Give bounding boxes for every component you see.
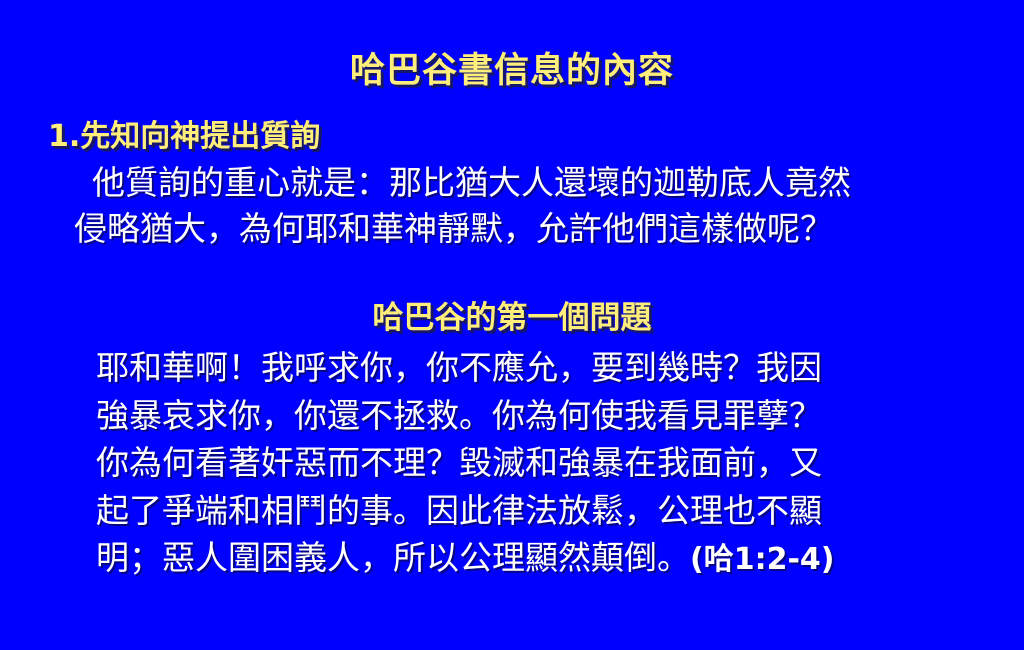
quote-line-text: 明；惡人圍困義人，所以公理顯然顛倒。 xyxy=(96,538,690,577)
quote-line: 你為何看著奸惡而不理？毀滅和強暴在我面前，又 xyxy=(96,439,1024,487)
scripture-quote: 耶和華啊！我呼求你，你不應允，要到幾時？我因 強暴哀求你，你還不拯救。你為何使我… xyxy=(96,344,1024,584)
presentation-slide: 哈巴谷書信息的內容 1.先知向神提出質詢 他質詢的重心就是：那比猶大人還壞的迦勒… xyxy=(0,0,1024,650)
quote-line-with-reference: 明；惡人圍困義人，所以公理顯然顛倒。(哈1:2-4) xyxy=(96,534,1024,584)
page-title: 哈巴谷書信息的內容 xyxy=(0,42,1024,93)
quote-line: 起了爭端和相鬥的事。因此律法放鬆，公理也不顯 xyxy=(96,487,1024,535)
scripture-reference: (哈1:2-4) xyxy=(690,542,835,577)
sub-heading-first-question: 哈巴谷的第一個問題 xyxy=(0,292,1024,337)
section-heading-point-1: 1.先知向神提出質詢 xyxy=(48,111,320,155)
body-paragraph: 他質詢的重心就是：那比猶大人還壞的迦勒底人竟然 侵略猶大，為何耶和華神靜默，允許… xyxy=(74,160,1014,252)
quote-line: 耶和華啊！我呼求你，你不應允，要到幾時？我因 xyxy=(96,344,1024,392)
body-line: 他質詢的重心就是：那比猶大人還壞的迦勒底人竟然 xyxy=(74,160,1014,206)
body-line: 侵略猶大，為何耶和華神靜默，允許他們這樣做呢？ xyxy=(74,206,1014,252)
quote-line: 強暴哀求你，你還不拯救。你為何使我看見罪孽？ xyxy=(96,392,1024,440)
